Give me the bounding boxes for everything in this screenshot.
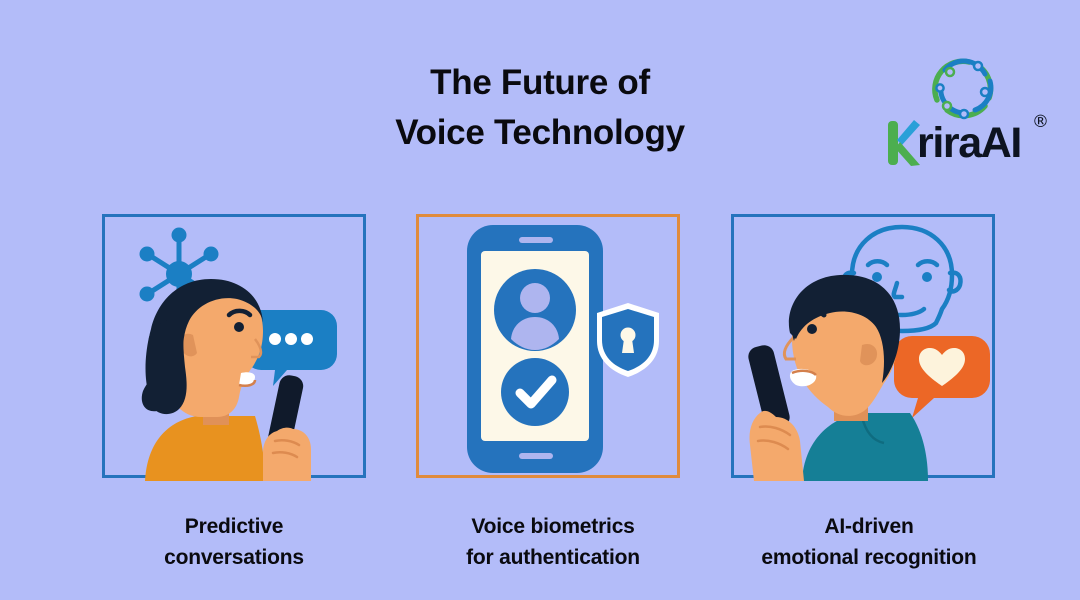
registered-mark: ® [1032,112,1049,132]
caption-line-2: for authentication [393,543,713,574]
slide-canvas: The Future of Voice Technology [0,0,1080,600]
title-line-2: Voice Technology [300,108,780,158]
user-avatar-icon [494,269,576,351]
card-predictive-conversations[interactable] [102,214,366,478]
speech-bubble-heart-icon [894,336,990,418]
logo-wordmark: riraAI ® [887,118,1070,168]
caption-line-2: conversations [74,543,394,574]
card-voice-biometrics[interactable] [416,214,680,478]
page-title: The Future of Voice Technology [300,58,780,157]
caption-line-1: AI-driven [709,512,1029,543]
card-emotional-recognition[interactable] [731,214,995,478]
logo-swirl-icon [923,48,1007,126]
caption-line-1: Voice biometrics [393,512,713,543]
illustration-phone-authentication [419,217,683,481]
illustration-man-with-phone [734,217,998,481]
check-circle-icon [501,358,569,426]
shield-lock-icon [597,303,659,377]
caption-predictive-conversations: Predictive conversations [74,512,394,574]
brand-logo: riraAI ® [885,48,1070,168]
caption-line-2: emotional recognition [709,543,1029,574]
title-line-1: The Future of [300,58,780,108]
logo-text: riraAI [917,118,1021,168]
caption-emotional-recognition: AI-driven emotional recognition [709,512,1029,574]
illustration-woman-with-phone [105,217,369,481]
caption-voice-biometrics: Voice biometrics for authentication [393,512,713,574]
caption-line-1: Predictive [74,512,394,543]
